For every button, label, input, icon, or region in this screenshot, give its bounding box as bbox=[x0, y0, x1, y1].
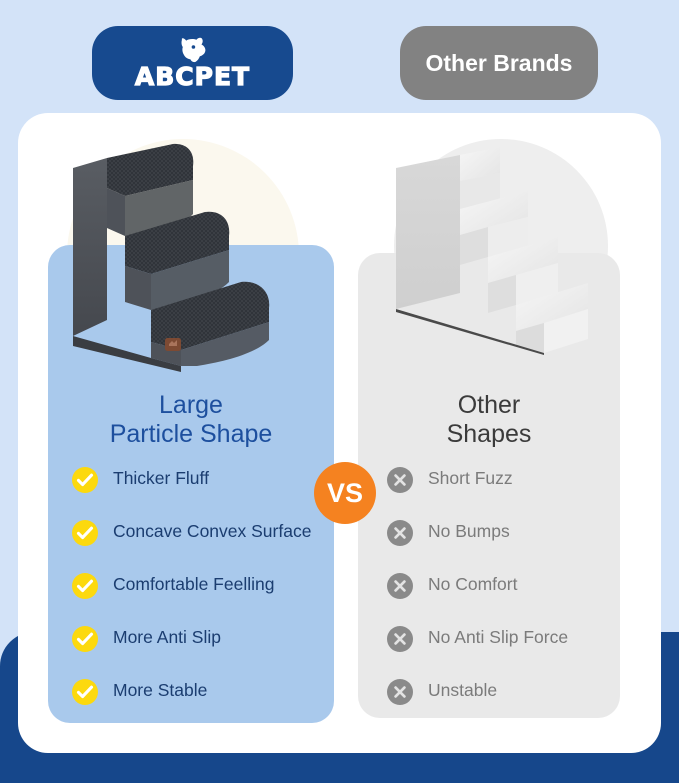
feature-label: More Anti Slip bbox=[113, 625, 221, 648]
feature-label: Unstable bbox=[428, 678, 497, 701]
x-circle-icon bbox=[387, 467, 413, 493]
list-item: No Anti Slip Force bbox=[387, 622, 612, 675]
check-circle-icon bbox=[72, 679, 98, 705]
feature-label: Concave Convex Surface bbox=[113, 519, 311, 542]
check-circle-icon bbox=[72, 573, 98, 599]
dog-head-icon bbox=[176, 37, 210, 63]
heading-abcpet: Large Particle Shape bbox=[48, 391, 334, 449]
dark-gray-pet-stairs-image bbox=[55, 140, 317, 372]
list-item: Thicker Fluff bbox=[72, 463, 324, 516]
tab-other-brands-line2: Brands bbox=[493, 50, 572, 76]
tab-abcpet-label: ABCPET bbox=[135, 64, 250, 89]
feature-label: No Comfort bbox=[428, 572, 517, 595]
feature-label: No Anti Slip Force bbox=[428, 625, 568, 648]
list-item: Short Fuzz bbox=[387, 463, 612, 516]
feature-label: Comfortable Feelling bbox=[113, 572, 274, 595]
tab-other-brands-label: Other Brands bbox=[426, 51, 573, 75]
feature-list-abcpet: Thicker Fluff Concave Convex Surface Com… bbox=[72, 463, 324, 728]
heading-other-line1: Other bbox=[358, 391, 620, 420]
feature-label: No Bumps bbox=[428, 519, 510, 542]
list-item: Comfortable Feelling bbox=[72, 569, 324, 622]
tab-other-brands-line1: Other bbox=[426, 50, 487, 76]
list-item: Unstable bbox=[387, 675, 612, 728]
x-circle-icon bbox=[387, 520, 413, 546]
feature-list-other: Short Fuzz No Bumps No Comfort bbox=[387, 463, 612, 728]
feature-label: Short Fuzz bbox=[428, 466, 513, 489]
heading-other-line2: Shapes bbox=[358, 420, 620, 449]
check-circle-icon bbox=[72, 467, 98, 493]
tab-abcpet[interactable]: ABCPET bbox=[92, 26, 293, 100]
x-circle-icon bbox=[387, 626, 413, 652]
feature-label: More Stable bbox=[113, 678, 207, 701]
list-item: More Anti Slip bbox=[72, 622, 324, 675]
list-item: Concave Convex Surface bbox=[72, 516, 324, 569]
check-circle-icon bbox=[72, 626, 98, 652]
x-circle-icon bbox=[387, 573, 413, 599]
light-gray-pet-stairs-image bbox=[388, 143, 616, 355]
list-item: No Comfort bbox=[387, 569, 612, 622]
x-circle-icon bbox=[387, 679, 413, 705]
vs-badge: VS bbox=[314, 462, 376, 524]
tab-other-brands[interactable]: Other Brands bbox=[400, 26, 598, 100]
heading-abcpet-line2: Particle Shape bbox=[48, 420, 334, 449]
comparison-infographic: ABCPET Other Brands bbox=[0, 0, 679, 783]
heading-abcpet-line1: Large bbox=[48, 391, 334, 420]
list-item: More Stable bbox=[72, 675, 324, 728]
heading-other: Other Shapes bbox=[358, 391, 620, 449]
list-item: No Bumps bbox=[387, 516, 612, 569]
feature-label: Thicker Fluff bbox=[113, 466, 209, 489]
check-circle-icon bbox=[72, 520, 98, 546]
